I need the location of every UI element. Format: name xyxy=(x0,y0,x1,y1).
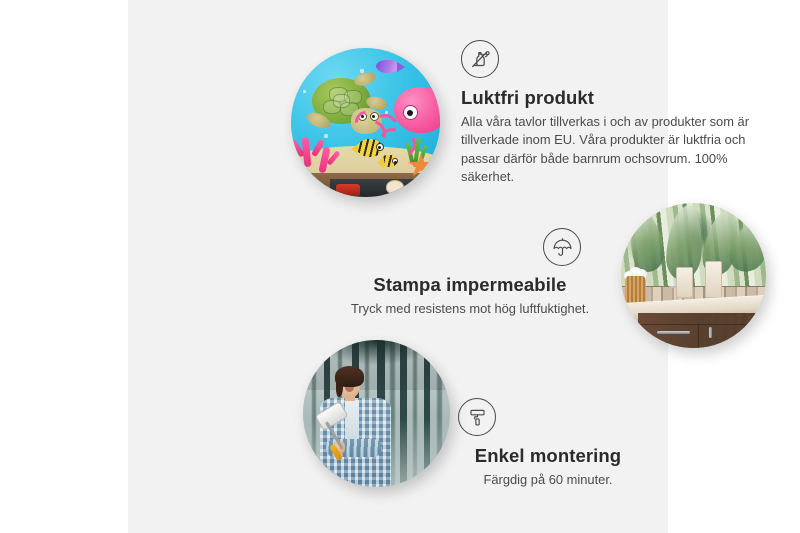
icon-wrap xyxy=(428,398,668,436)
door-handle xyxy=(709,327,712,337)
umbrella-icon xyxy=(543,228,581,266)
icon-wrap xyxy=(341,228,599,266)
soap-bottle xyxy=(705,261,722,298)
shell-plate xyxy=(333,94,349,107)
feature-title: Enkel montering xyxy=(428,445,668,467)
door-handle xyxy=(745,326,748,337)
content-canvas: Luktfri produkt Alla våra tavlor tillver… xyxy=(128,0,668,533)
drawer-handle xyxy=(657,331,690,334)
feature-waterproof: Stampa impermeabile Tryck med resistens … xyxy=(341,228,599,318)
page-root: Luktfri produkt Alla våra tavlor tillver… xyxy=(0,0,800,533)
underwater-artwork xyxy=(291,48,440,197)
feature-easy-assembly: Enkel montering Färgdig på 60 minuter. xyxy=(428,398,668,489)
paint-roller-icon xyxy=(458,398,496,436)
bathroom-artwork xyxy=(621,203,766,348)
soap-bottle xyxy=(676,267,693,298)
icon-wrap xyxy=(461,40,753,78)
product-image-underwater[interactable] xyxy=(291,48,440,197)
feature-odorless: Luktfri produkt Alla våra tavlor tillver… xyxy=(461,40,753,187)
cabinet-seam xyxy=(698,324,699,348)
octopus xyxy=(394,87,440,133)
no-fragrance-icon xyxy=(461,40,499,78)
bubble-icon xyxy=(303,90,306,93)
purple-fish xyxy=(376,60,398,73)
feature-description: Färgdig på 60 minuter. xyxy=(428,471,668,489)
woman-figure xyxy=(315,366,406,487)
hair-strand xyxy=(336,377,343,396)
vanity-cabinet xyxy=(638,313,766,348)
feature-description: Alla våra tavlor tillverkas i och av pro… xyxy=(461,113,753,187)
feature-title: Stampa impermeabile xyxy=(341,274,599,296)
feature-title: Luktfri produkt xyxy=(461,87,753,109)
product-image-bathroom[interactable] xyxy=(621,203,766,348)
shell-icon xyxy=(386,180,404,194)
red-object xyxy=(336,184,360,196)
octopus-eye xyxy=(403,105,418,120)
feature-description: Tryck med resistens mot hög luftfuktighe… xyxy=(341,300,599,318)
cabinet-seam xyxy=(638,324,766,325)
